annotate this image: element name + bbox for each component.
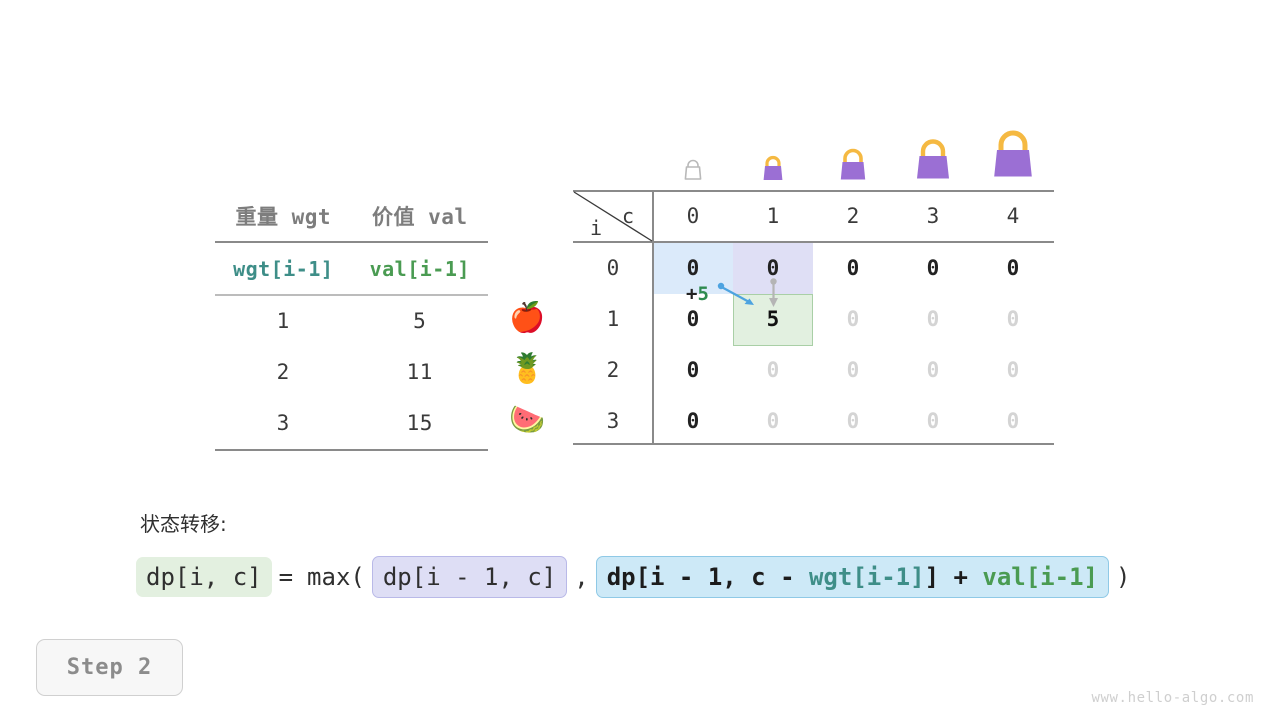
dp-cell-3-2: 0 — [823, 409, 883, 433]
dp-col-header-1: 1 — [743, 204, 803, 228]
pineapple-emoji: 🍍 — [505, 354, 549, 383]
formula-max-open: max( — [300, 563, 372, 591]
dp-row-header-3: 3 — [583, 409, 643, 433]
corner-diagonal-icon — [573, 191, 653, 242]
dp-cell-1-2: 0 — [823, 307, 883, 331]
dp-cell-2-3: 0 — [903, 358, 963, 382]
item-val-3: 15 — [352, 411, 489, 435]
item-table-subheader-val: val[i-1] — [352, 257, 489, 281]
formula-close-paren: ) — [1109, 563, 1137, 591]
item-table-header-wgt: 重量 wgt — [215, 201, 352, 231]
item-val-1: 5 — [352, 309, 489, 333]
item-table-header-val: 价值 val — [352, 201, 489, 231]
item-table-header-row: 重量 wgt 价值 val — [215, 190, 488, 241]
dp-row-header-1: 1 — [583, 307, 643, 331]
watermark: www.hello-algo.com — [1091, 690, 1254, 706]
item-table-rule-bottom — [215, 449, 488, 451]
table-row: 1 5 — [215, 296, 488, 347]
item-table: 重量 wgt 价值 val wgt[i-1] val[i-1] 1 5 2 11… — [215, 190, 488, 451]
formula-token-wgt: wgt[i-1] — [809, 563, 925, 591]
table-row: 2 11 — [215, 347, 488, 398]
dp-col-header-4: 4 — [983, 204, 1043, 228]
dp-cell-3-1: 0 — [743, 409, 803, 433]
formula-comma: , — [567, 563, 595, 591]
value-gain-sign: + — [686, 283, 697, 305]
item-wgt-1: 1 — [215, 309, 352, 333]
bag-capacity-2 — [833, 145, 873, 184]
dp-cell-0-3: 0 — [903, 256, 963, 280]
axis-label-i: i — [590, 216, 602, 240]
apple-emoji: 🍎 — [505, 303, 549, 332]
dp-row-header-2: 2 — [583, 358, 643, 382]
axis-label-c: c — [622, 204, 634, 228]
dp-cell-1-3: 0 — [903, 307, 963, 331]
watermelon-emoji: 🍉 — [505, 405, 549, 434]
item-table-subheader-row: wgt[i-1] val[i-1] — [215, 243, 488, 294]
value-gain-number: 5 — [697, 283, 708, 305]
diagonal-transition-arrow-icon — [710, 275, 770, 320]
item-table-subheader-wgt: wgt[i-1] — [215, 257, 352, 281]
formula-equals: = — [272, 563, 300, 591]
bag-capacity-0 — [681, 158, 705, 184]
dp-cell-2-0: 0 — [663, 358, 723, 382]
dp-cell-2-2: 0 — [823, 358, 883, 382]
formula-token-val: val[i-1] — [982, 563, 1098, 591]
state-transition-label: 状态转移: — [140, 508, 227, 537]
formula-lhs: dp[i, c] — [136, 557, 272, 597]
item-wgt-3: 3 — [215, 411, 352, 435]
dp-col-header-2: 2 — [823, 204, 883, 228]
dp-cell-2-1: 0 — [743, 358, 803, 382]
dp-row-header-0: 0 — [583, 256, 643, 280]
dp-cell-0-4: 0 — [983, 256, 1043, 280]
dp-table-bottom-rule — [573, 443, 1054, 445]
table-row: 3 15 — [215, 398, 488, 449]
formula-term-skip: dp[i - 1, c] — [372, 556, 567, 598]
bag-capacity-3 — [908, 135, 958, 184]
state-transition-formula: dp[i, c] = max( dp[i - 1, c] , dp[i - 1,… — [136, 556, 1137, 598]
vertical-transition-arrow-icon — [763, 277, 785, 311]
dp-cell-1-4: 0 — [983, 307, 1043, 331]
item-val-2: 11 — [352, 360, 489, 384]
item-wgt-2: 2 — [215, 360, 352, 384]
bag-capacity-1 — [757, 152, 789, 184]
bag-capacity-4 — [984, 126, 1042, 183]
dp-col-header-3: 3 — [903, 204, 963, 228]
dp-cell-0-2: 0 — [823, 256, 883, 280]
dp-col-header-0: 0 — [663, 204, 723, 228]
dp-cell-2-4: 0 — [983, 358, 1043, 382]
dp-cell-3-0: 0 — [663, 409, 723, 433]
step-badge: Step 2 — [36, 639, 183, 696]
formula-term-take-mid: ] + — [925, 563, 983, 591]
formula-term-take: dp[i - 1, c - wgt[i-1]] + val[i-1] — [596, 556, 1109, 598]
dp-cell-3-3: 0 — [903, 409, 963, 433]
formula-term-take-prefix: dp[i - 1, c - — [607, 563, 809, 591]
value-gain-annotation: +5 — [686, 283, 709, 305]
dp-cell-3-4: 0 — [983, 409, 1043, 433]
